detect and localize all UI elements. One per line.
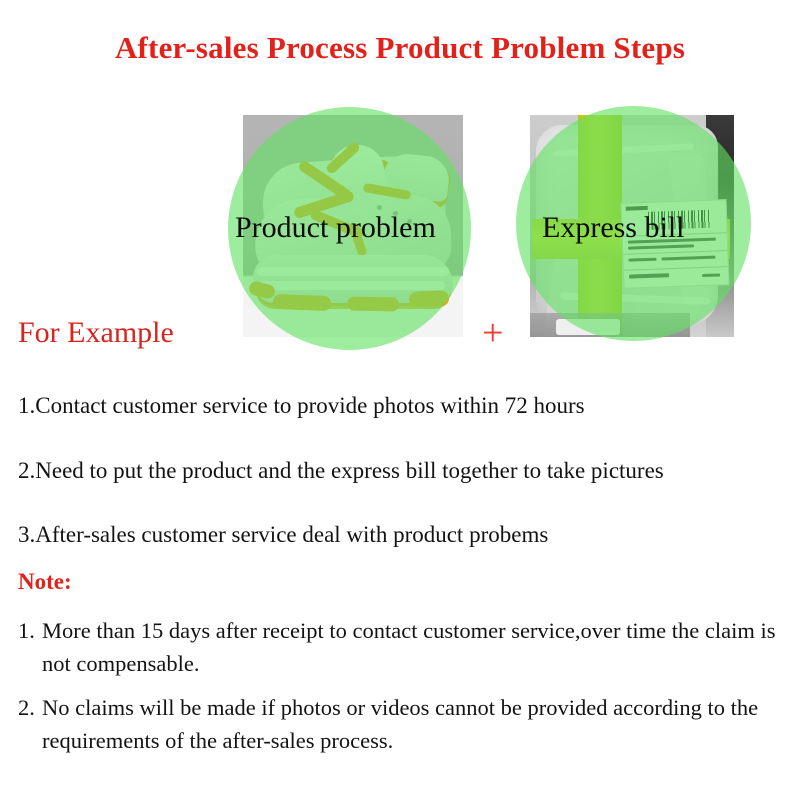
step-item: 3.After-sales customer service deal with… [18, 521, 788, 549]
step-item: 2.Need to put the product and the expres… [18, 457, 788, 485]
label-text-line-shape [629, 273, 669, 278]
product-problem-caption: Product problem [235, 213, 436, 243]
label-text-line-shape [628, 258, 656, 262]
sneaker-sole-ridge-shape [261, 281, 445, 290]
product-problem-photo: Product problem [243, 115, 463, 337]
sneaker-sole-orange-shape [273, 294, 331, 311]
example-row: For Example [0, 110, 800, 340]
label-text-line-shape [628, 244, 694, 249]
parcel-floor-shape [556, 319, 620, 335]
label-text-line-shape [702, 273, 720, 277]
express-bill-photo: Express bill [530, 115, 734, 337]
steps-list: 1.Contact customer service to provide ph… [18, 392, 788, 586]
sneaker-sole-orange-shape [347, 297, 399, 312]
plus-icon: + [482, 314, 503, 352]
sneaker-sole-ridge-shape [257, 267, 449, 276]
page-title: After-sales Process Product Problem Step… [0, 30, 800, 66]
label-header-shape [626, 206, 648, 211]
note-item: 1.More than 15 days after receipt to con… [18, 614, 790, 681]
note-item: 2.No claims will be made if photos or vi… [18, 691, 790, 758]
note-label: Note: [18, 568, 72, 596]
express-bill-caption: Express bill [542, 213, 685, 243]
label-text-line-shape [661, 256, 715, 261]
poster-root: After-sales Process Product Problem Step… [0, 0, 800, 800]
for-example-label: For Example [18, 318, 174, 348]
note-text: No claims will be made if photos or vide… [42, 695, 758, 753]
step-item: 1.Contact customer service to provide ph… [18, 392, 788, 420]
label-rule-shape [624, 266, 728, 271]
label-rule-shape [623, 250, 727, 255]
note-marker: 2. [18, 691, 42, 724]
note-text: More than 15 days after receipt to conta… [42, 618, 775, 676]
sneaker-sole-orange-shape [409, 290, 450, 308]
sneaker-eyelet-shape [377, 205, 382, 210]
note-marker: 1. [18, 614, 42, 647]
bag-crease-shape [554, 143, 694, 156]
note-list: 1.More than 15 days after receipt to con… [18, 614, 790, 767]
